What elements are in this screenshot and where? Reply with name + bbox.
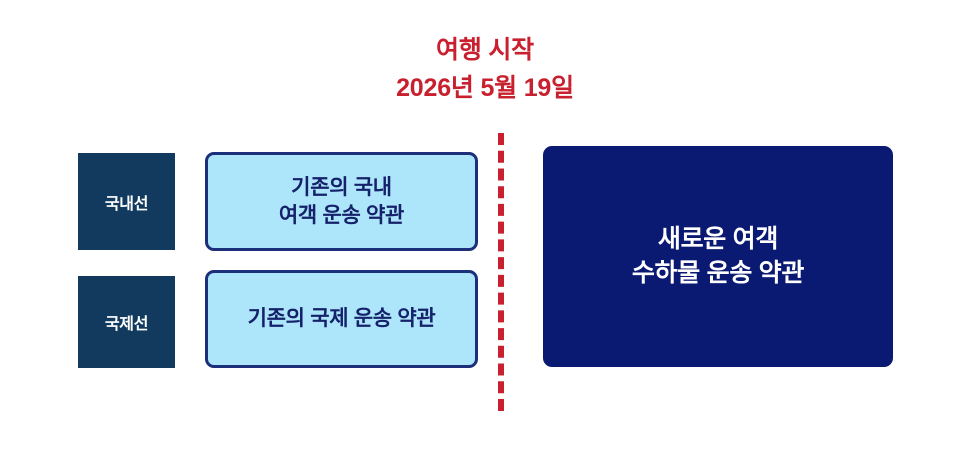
existing-domestic-terms-line1: 기존의 국내 bbox=[279, 174, 404, 202]
transition-divider-line bbox=[498, 133, 504, 411]
new-terms-box: 새로운 여객 수하물 운송 약관 bbox=[543, 146, 893, 367]
new-terms-line1: 새로운 여객 bbox=[632, 223, 804, 257]
new-terms-text: 새로운 여객 수하물 운송 약관 bbox=[632, 223, 804, 290]
existing-domestic-terms-line2: 여객 운송 약관 bbox=[279, 202, 404, 230]
header-title: 여행 시작 bbox=[0, 34, 970, 66]
existing-international-terms-text: 기존의 국제 운송 약관 bbox=[248, 305, 436, 333]
category-chip-international: 국제선 bbox=[78, 276, 175, 368]
category-chip-domestic: 국내선 bbox=[78, 153, 175, 250]
header-block: 여행 시작 2026년 5월 19일 bbox=[0, 34, 970, 104]
existing-domestic-terms-box: 기존의 국내 여객 운송 약관 bbox=[205, 152, 478, 251]
header-date: 2026년 5월 19일 bbox=[0, 72, 970, 104]
category-chip-domestic-label: 국내선 bbox=[105, 190, 148, 214]
existing-domestic-terms-text: 기존의 국내 여객 운송 약관 bbox=[279, 174, 404, 229]
existing-international-terms-line1: 기존의 국제 운송 약관 bbox=[248, 305, 436, 333]
new-terms-line2: 수하물 운송 약관 bbox=[632, 257, 804, 291]
category-chip-international-label: 국제선 bbox=[105, 310, 148, 334]
existing-international-terms-box: 기존의 국제 운송 약관 bbox=[205, 270, 478, 368]
terms-transition-diagram: 여행 시작 2026년 5월 19일 국내선 기존의 국내 여객 운송 약관 국… bbox=[0, 0, 970, 450]
